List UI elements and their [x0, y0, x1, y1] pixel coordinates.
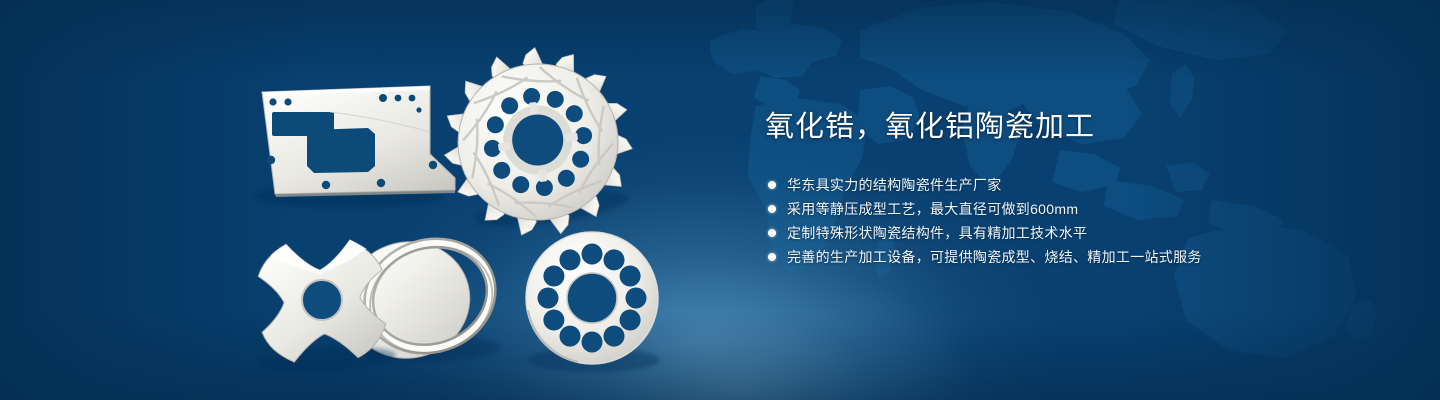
- hero-banner: 氧化锆，氧化铝陶瓷加工 华东具实力的结构陶瓷件生产厂家 采用等静压成型工艺，最大…: [0, 0, 1440, 400]
- list-item: 采用等静压成型工艺，最大直径可做到600mm: [765, 197, 1385, 221]
- dot-bullet-icon: [768, 253, 776, 261]
- dot-bullet-icon: [768, 229, 776, 237]
- list-item: 完善的生产加工设备，可提供陶瓷成型、烧结、精加工一站式服务: [765, 245, 1385, 269]
- ceramic-products-image: [0, 0, 760, 400]
- list-item: 华东具实力的结构陶瓷件生产厂家: [765, 173, 1385, 197]
- banner-headline: 氧化锆，氧化铝陶瓷加工: [765, 108, 1385, 146]
- list-item-label: 采用等静压成型工艺，最大直径可做到600mm: [787, 201, 1078, 217]
- ceramic-plate-part: [255, 86, 455, 208]
- ceramic-impeller-part: [431, 36, 645, 250]
- banner-feature-list: 华东具实力的结构陶瓷件生产厂家 采用等静压成型工艺，最大直径可做到600mm 定…: [765, 173, 1385, 269]
- dot-bullet-icon: [768, 181, 776, 189]
- list-item: 定制特殊形状陶瓷结构件，具有精加工技术水平: [765, 221, 1385, 245]
- list-item-label: 华东具实力的结构陶瓷件生产厂家: [787, 177, 1002, 193]
- ceramic-valve-plate-part: [526, 232, 660, 372]
- list-item-label: 定制特殊形状陶瓷结构件，具有精加工技术水平: [787, 225, 1087, 241]
- banner-text-block: 氧化锆，氧化铝陶瓷加工 华东具实力的结构陶瓷件生产厂家 采用等静压成型工艺，最大…: [765, 108, 1385, 269]
- list-item-label: 完善的生产加工设备，可提供陶瓷成型、烧结、精加工一站式服务: [787, 249, 1202, 265]
- dot-bullet-icon: [768, 205, 776, 213]
